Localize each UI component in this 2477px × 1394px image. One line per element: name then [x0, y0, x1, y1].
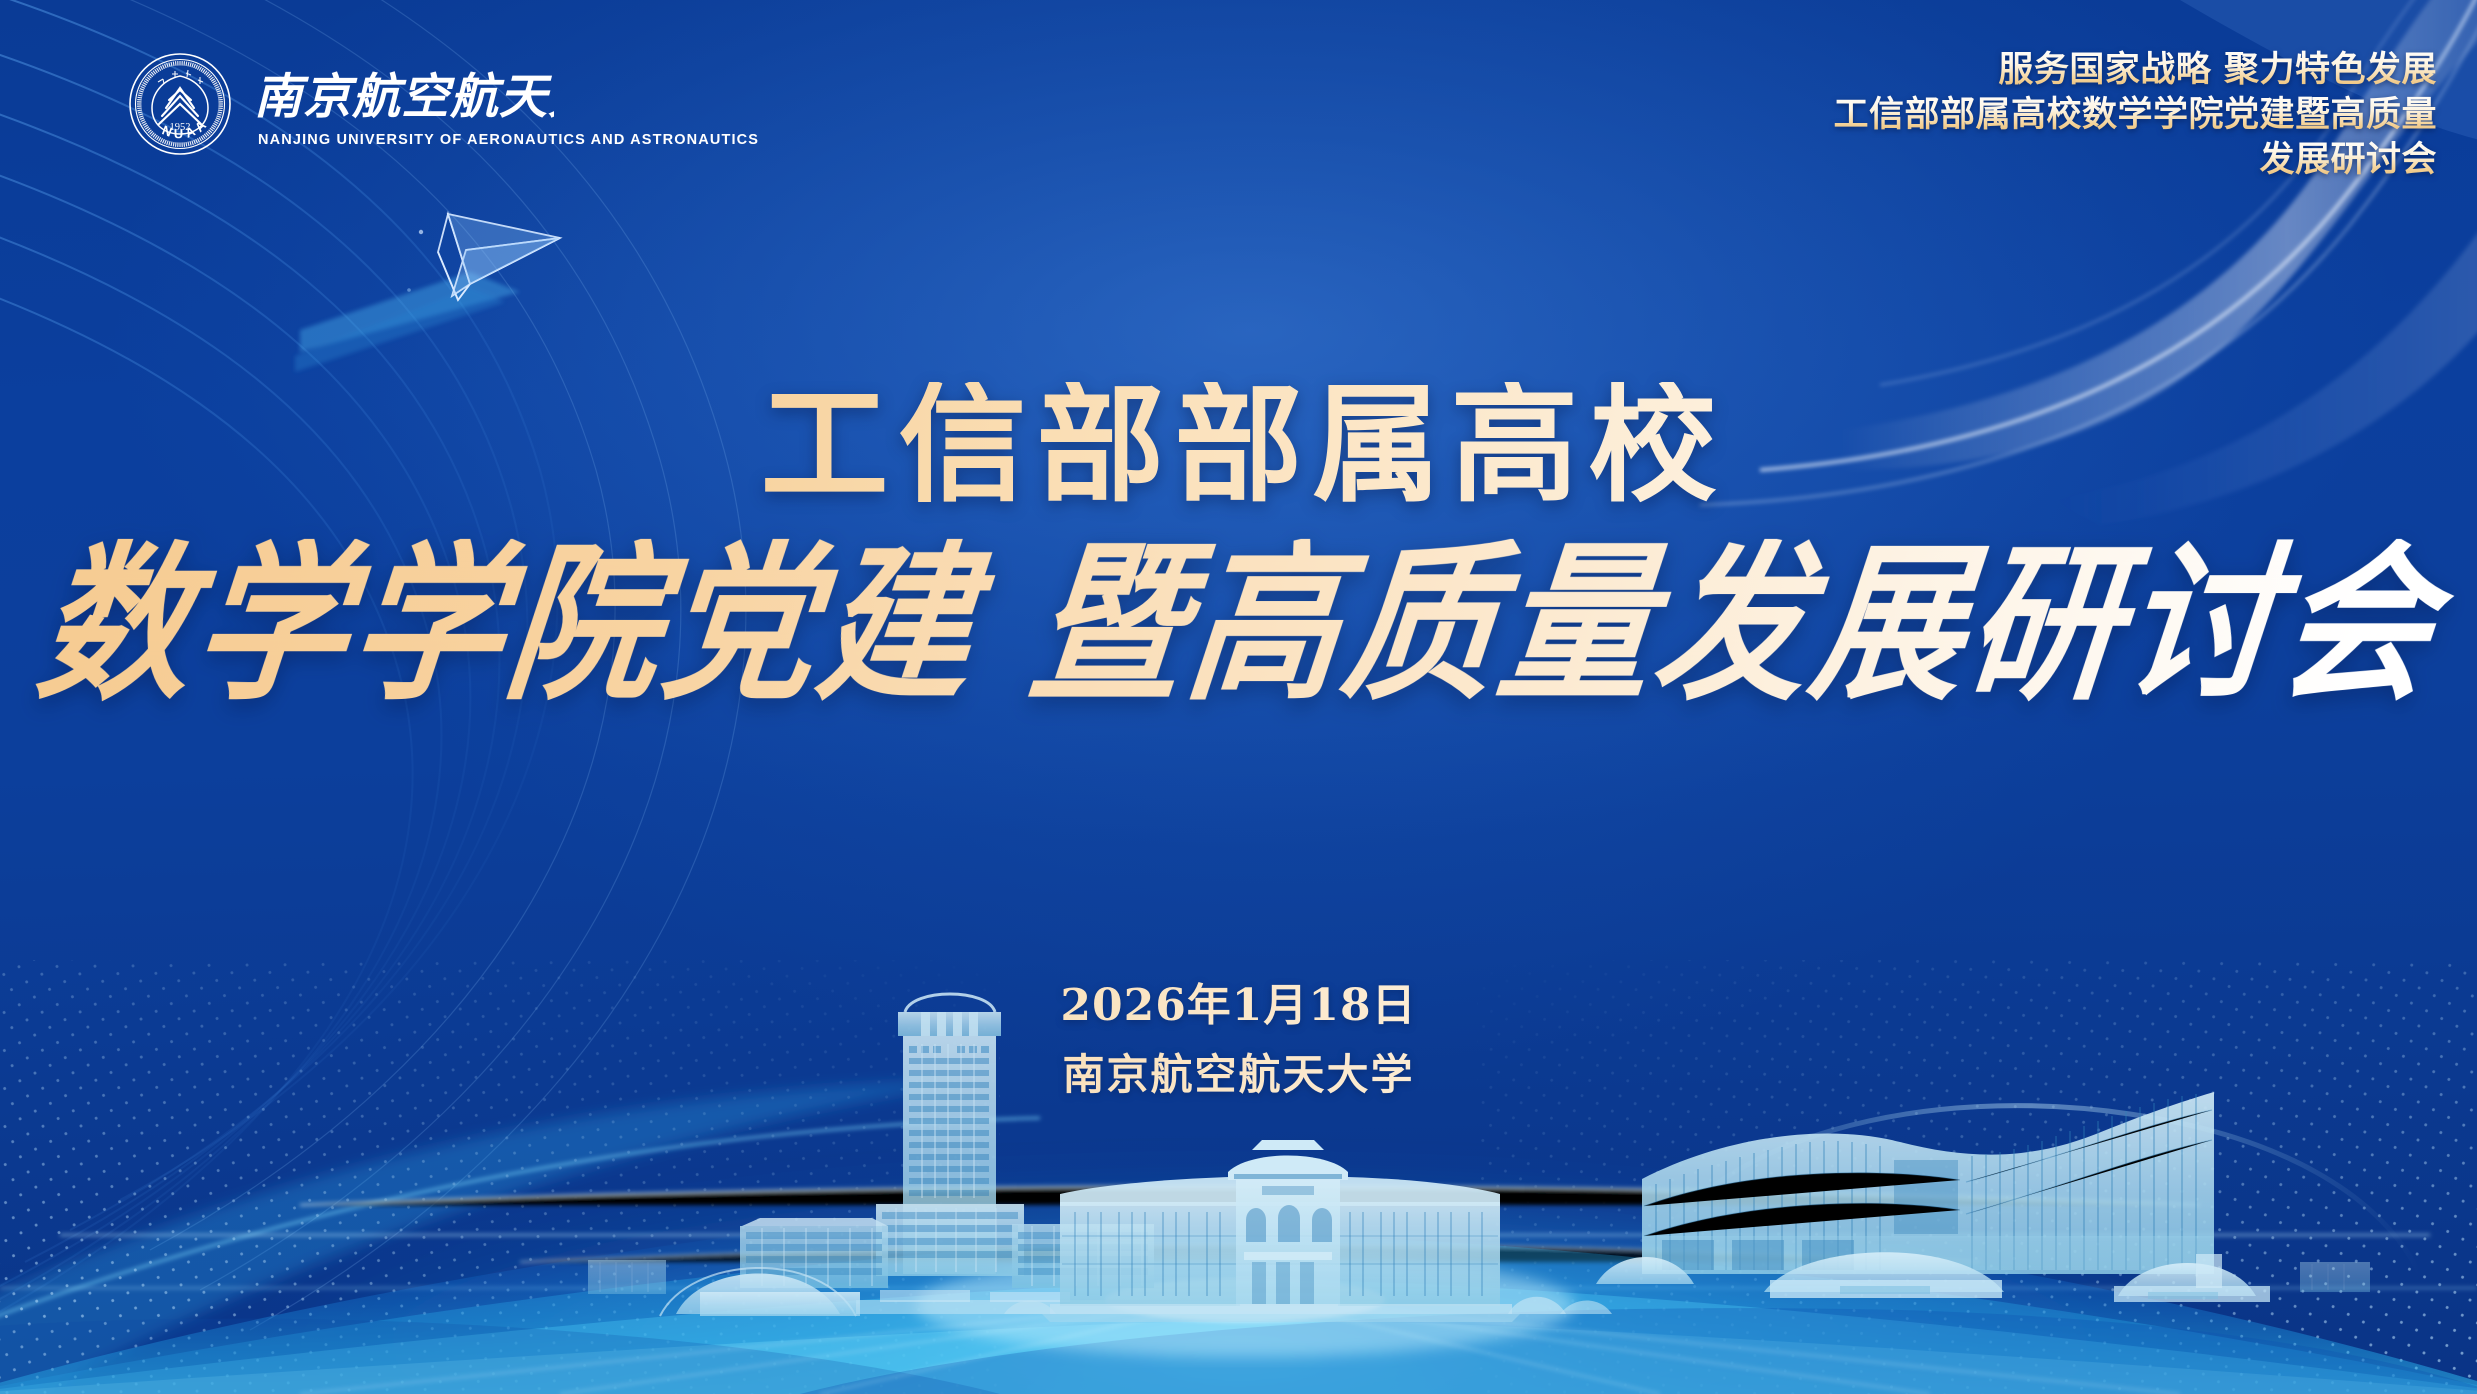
event-venue: 南京航空航天大学 [0, 1050, 2477, 1100]
slogan-line-2: 工信部部属高校数学学院党建暨高质量 [1677, 93, 2437, 138]
skyline-right-building [1596, 1092, 2270, 1302]
university-logo: 1952 NUAA 南京航空航天大學 NANJING UNIVERSITY OF… [128, 52, 759, 156]
title-line-2: 数学学院党建 暨高质量发展研讨会 [0, 539, 2477, 709]
poster-header: 1952 NUAA 南京航空航天大學 NANJING UNIVERSITY OF… [0, 0, 2477, 220]
slogan-line-1: 服务国家战略 聚力特色发展 [1677, 48, 2437, 93]
event-slogan: 服务国家战略 聚力特色发展 工信部部属高校数学学院党建暨高质量 发展研讨会 [1677, 48, 2437, 182]
event-meta: 2026年1月18日 南京航空航天大学 [0, 980, 2477, 1099]
svg-text:南京航空航天大學: 南京航空航天大學 [254, 69, 554, 125]
poster-canvas: 1952 NUAA 南京航空航天大學 NANJING UNIVERSITY OF… [0, 0, 2477, 1394]
title-line-1: 工信部部属高校 [0, 382, 2477, 510]
university-name-cn: 南京航空航天大學 [254, 61, 554, 129]
slogan-line-3: 发展研讨会 [1677, 138, 2437, 183]
skyline-far-right [2300, 1262, 2370, 1292]
nuaa-seal-icon: 1952 NUAA [128, 52, 232, 156]
university-name-en: NANJING UNIVERSITY OF AERONAUTICS AND AS… [258, 132, 759, 148]
event-date: 2026年1月18日 [0, 980, 2477, 1032]
paper-airplane-icon [295, 214, 560, 372]
skyline-main-hall [1004, 1140, 1612, 1322]
skyline-far-left [588, 1260, 666, 1294]
